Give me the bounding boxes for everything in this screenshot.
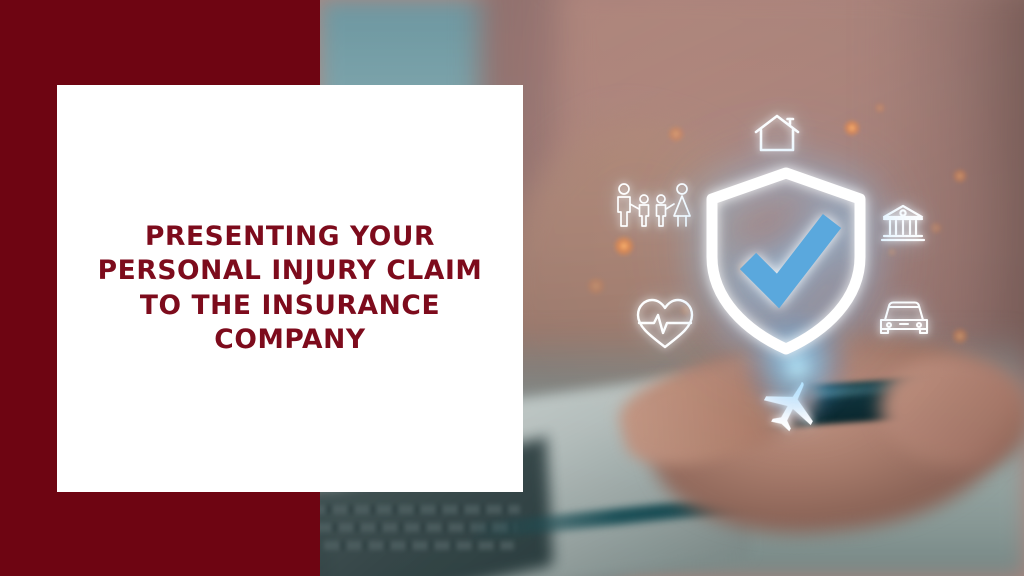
headline-card: Presenting Your Personal Injury Claim To… bbox=[57, 85, 523, 492]
page-title: Presenting Your Personal Injury Claim To… bbox=[74, 220, 507, 358]
photo-key-row bbox=[324, 541, 514, 550]
slide-canvas: Presenting Your Personal Injury Claim To… bbox=[0, 0, 1024, 576]
photo-shirt-shadow bbox=[874, 0, 1024, 360]
photo-key-row bbox=[320, 505, 520, 514]
